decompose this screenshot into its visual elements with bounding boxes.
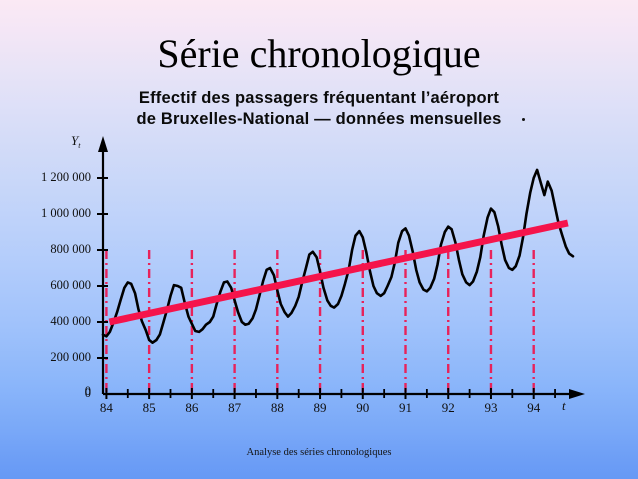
- x-axis-tick-label: 90: [343, 400, 383, 416]
- y-axis-tick-label: 600 000: [0, 278, 91, 293]
- x-axis-tick-label: 91: [386, 400, 426, 416]
- y-axis-tick-label: 1 000 000: [0, 206, 91, 221]
- x-axis-tick-label: 87: [215, 400, 255, 416]
- x-axis-tick-label: 85: [129, 400, 169, 416]
- x-axis-arrow-icon: [569, 389, 585, 399]
- trend-line: [109, 223, 567, 322]
- series-line-passengers: [103, 170, 573, 343]
- x-axis-tick-label: 93: [471, 400, 511, 416]
- x-axis-tick-label: 86: [172, 400, 212, 416]
- y-axis-tick-label: 800 000: [0, 242, 91, 257]
- y-axis-title-subscript: t: [78, 141, 80, 150]
- x-axis-tick-label: 92: [428, 400, 468, 416]
- slide-footer: Analyse des séries chronologiques: [0, 447, 638, 458]
- y-axis-arrow-icon: [98, 136, 108, 152]
- x-axis-tick-label: 89: [300, 400, 340, 416]
- y-axis-tick-label: 200 000: [0, 350, 91, 365]
- x-axis-tick-label: 84: [86, 400, 126, 416]
- y-axis-title: Yt: [71, 133, 80, 150]
- slide-root: Série chronologique Effectif des passage…: [0, 0, 638, 479]
- x-axis-title: t: [562, 398, 566, 414]
- y-axis-tick-label: 1 200 000: [0, 170, 91, 185]
- chart-axes: [98, 136, 585, 399]
- y-axis-tick-label: 400 000: [0, 314, 91, 329]
- origin-label: 0: [0, 384, 91, 399]
- x-axis-tick-label: 88: [257, 400, 297, 416]
- x-axis-tick-label: 94: [514, 400, 554, 416]
